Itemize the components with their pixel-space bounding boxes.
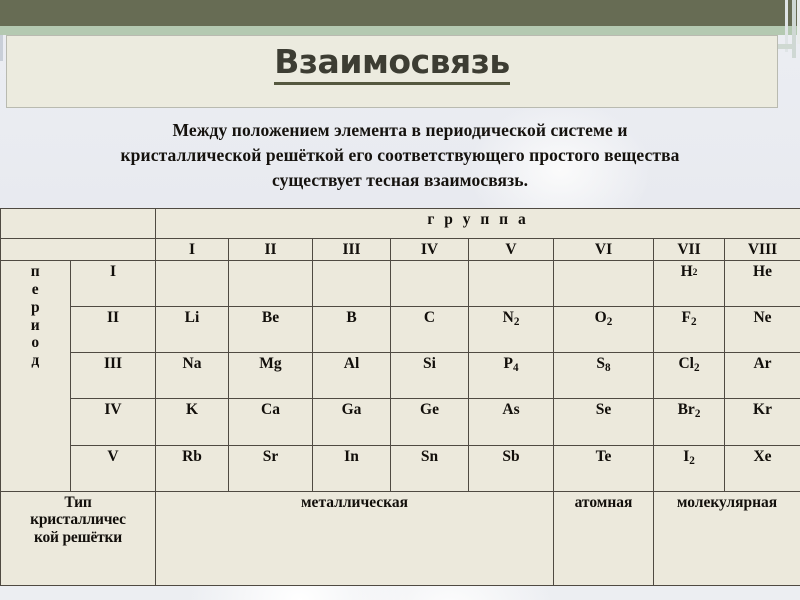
cell-r1-c2: B	[313, 307, 391, 353]
cell-r3-c6: Br2	[654, 399, 725, 445]
group-col-IV: IV	[391, 239, 469, 261]
cell-r2-c6: Cl2	[654, 353, 725, 399]
corner-blank-cell	[1, 209, 156, 239]
cell-r3-c0: K	[156, 399, 229, 445]
table-row-lattice-type: Типкристаллической решётки металлическая…	[1, 491, 800, 585]
element-symbol: Si	[392, 355, 467, 373]
element-symbol: Mg	[230, 355, 311, 373]
cell-r2-c4: P4	[469, 353, 554, 399]
lattice-type-line: кой решётки	[2, 529, 154, 547]
cell-r1-c5: O2	[554, 307, 654, 353]
cell-r3-c1: Ca	[229, 399, 313, 445]
period-axis-letter: д	[2, 352, 69, 370]
period-axis-letter: е	[2, 281, 69, 299]
period-number-IV: IV	[71, 399, 156, 445]
element-symbol: Li	[157, 309, 227, 327]
cell-r4-c7: Xe	[725, 445, 800, 491]
element-symbol: Kr	[726, 401, 799, 419]
element-symbol: S8	[555, 355, 652, 373]
table-row-period-II: II Li Be B C N2 O2 F2 Ne	[1, 307, 800, 353]
lattice-type-line: кристалличес	[2, 511, 154, 529]
table-row-group-header: г р у п п а	[1, 209, 800, 239]
element-symbol: O2	[555, 309, 652, 327]
period-axis-letter: р	[2, 299, 69, 317]
cell-r0-c1	[229, 261, 313, 307]
cell-r4-c2: In	[313, 445, 391, 491]
page-title: Взаимосвязь	[274, 45, 510, 85]
periodic-lattice-table-wrap: г р у п п а I II III IV V VI VII VIII пе…	[0, 208, 800, 586]
element-symbol: Ne	[726, 309, 799, 327]
element-symbol: B	[314, 309, 389, 327]
cell-r0-c4	[469, 261, 554, 307]
cell-r4-c5: Te	[554, 445, 654, 491]
cell-r1-c6: F2	[654, 307, 725, 353]
element-symbol: I2	[655, 448, 723, 466]
element-symbol: Na	[157, 355, 227, 373]
cell-r0-c7: He	[725, 261, 800, 307]
table-row-period-IV: IV K Ca Ga Ge As Se Br2 Kr	[1, 399, 800, 445]
corner-blank-cell-2	[1, 239, 156, 261]
cell-r2-c7: Ar	[725, 353, 800, 399]
element-symbol: As	[470, 401, 552, 419]
element-symbol: Br2	[655, 401, 723, 419]
top-olive-band	[0, 0, 800, 26]
lattice-atomic: атомная	[554, 491, 654, 585]
cell-r1-c1: Be	[229, 307, 313, 353]
table-row-group-numerals: I II III IV V VI VII VIII	[1, 239, 800, 261]
group-header-label: г р у п п а	[156, 209, 800, 239]
element-symbol: Ga	[314, 401, 389, 419]
cell-r1-c3: C	[391, 307, 469, 353]
cell-r3-c3: Ge	[391, 399, 469, 445]
cell-r2-c5: S8	[554, 353, 654, 399]
element-symbol: Cl2	[655, 355, 723, 373]
period-axis-label: период	[1, 261, 71, 492]
table-row-period-V: V Rb Sr In Sn Sb Te I2 Xe	[1, 445, 800, 491]
cell-r0-c0	[156, 261, 229, 307]
element-symbol: Sb	[470, 448, 552, 466]
subtitle-line-1: Между положением элемента в периодическо…	[18, 118, 782, 143]
table-row-period-I: период I H2 He	[1, 261, 800, 307]
element-symbol: Rb	[157, 448, 227, 466]
element-symbol: Be	[230, 309, 311, 327]
cell-r4-c0: Rb	[156, 445, 229, 491]
lattice-type-row-label: Типкристаллической решётки	[1, 491, 156, 585]
element-symbol: N2	[470, 309, 552, 327]
element-symbol: P4	[470, 355, 552, 373]
element-symbol: Sr	[230, 448, 311, 466]
table-row-period-III: III Na Mg Al Si P4 S8 Cl2 Ar	[1, 353, 800, 399]
lattice-type-line: Тип	[2, 494, 154, 512]
cell-r0-c2	[313, 261, 391, 307]
group-col-VIII: VIII	[725, 239, 800, 261]
subtitle-line-2: кристаллической решёткой его соответству…	[18, 143, 782, 168]
right-edge-stripe-4	[778, 44, 792, 49]
period-number-II: II	[71, 307, 156, 353]
element-symbol: F2	[655, 309, 723, 327]
cell-r4-c1: Sr	[229, 445, 313, 491]
cell-r4-c3: Sn	[391, 445, 469, 491]
title-box: Взаимосвязь	[6, 35, 778, 108]
cell-r0-c3	[391, 261, 469, 307]
element-symbol: C	[392, 309, 467, 327]
period-axis-letter: п	[2, 263, 69, 281]
subtitle-line-3: существует тесная взаимосвязь.	[18, 168, 782, 193]
cell-r4-c4: Sb	[469, 445, 554, 491]
group-col-VII: VII	[654, 239, 725, 261]
group-col-I: I	[156, 239, 229, 261]
group-col-III: III	[313, 239, 391, 261]
cell-r3-c4: As	[469, 399, 554, 445]
lattice-metallic: металлическая	[156, 491, 554, 585]
element-symbol: H2	[655, 263, 723, 281]
period-axis-letter: и	[2, 317, 69, 335]
period-axis-letter: о	[2, 334, 69, 352]
period-number-V: V	[71, 445, 156, 491]
element-symbol: Se	[555, 401, 652, 419]
cell-r3-c2: Ga	[313, 399, 391, 445]
group-col-VI: VI	[554, 239, 654, 261]
element-symbol: Al	[314, 355, 389, 373]
group-col-V: V	[469, 239, 554, 261]
element-symbol: K	[157, 401, 227, 419]
right-edge-stripe-2	[792, 0, 796, 58]
cell-r2-c2: Al	[313, 353, 391, 399]
cell-r0-c5	[554, 261, 654, 307]
element-symbol: He	[726, 263, 799, 281]
cell-r2-c0: Na	[156, 353, 229, 399]
cell-r2-c1: Mg	[229, 353, 313, 399]
cell-r1-c4: N2	[469, 307, 554, 353]
cell-r3-c5: Se	[554, 399, 654, 445]
cell-r3-c7: Kr	[725, 399, 800, 445]
cell-r4-c6: I2	[654, 445, 725, 491]
period-number-III: III	[71, 353, 156, 399]
cell-r0-c6: H2	[654, 261, 725, 307]
subtitle-text: Между положением элемента в периодическо…	[18, 118, 782, 193]
lattice-molecular: молекулярная	[654, 491, 800, 585]
element-symbol: Ar	[726, 355, 799, 373]
cell-r1-c7: Ne	[725, 307, 800, 353]
periodic-lattice-table: г р у п п а I II III IV V VI VII VIII пе…	[0, 208, 800, 586]
element-symbol: Xe	[726, 448, 799, 466]
element-symbol: Ge	[392, 401, 467, 419]
cell-r1-c0: Li	[156, 307, 229, 353]
left-edge-stripe	[0, 35, 3, 61]
element-symbol: Ca	[230, 401, 311, 419]
element-symbol: In	[314, 448, 389, 466]
element-symbol: Sn	[392, 448, 467, 466]
element-symbol: Te	[555, 448, 652, 466]
group-col-II: II	[229, 239, 313, 261]
top-sage-band	[0, 26, 800, 35]
period-number-I: I	[71, 261, 156, 307]
cell-r2-c3: Si	[391, 353, 469, 399]
